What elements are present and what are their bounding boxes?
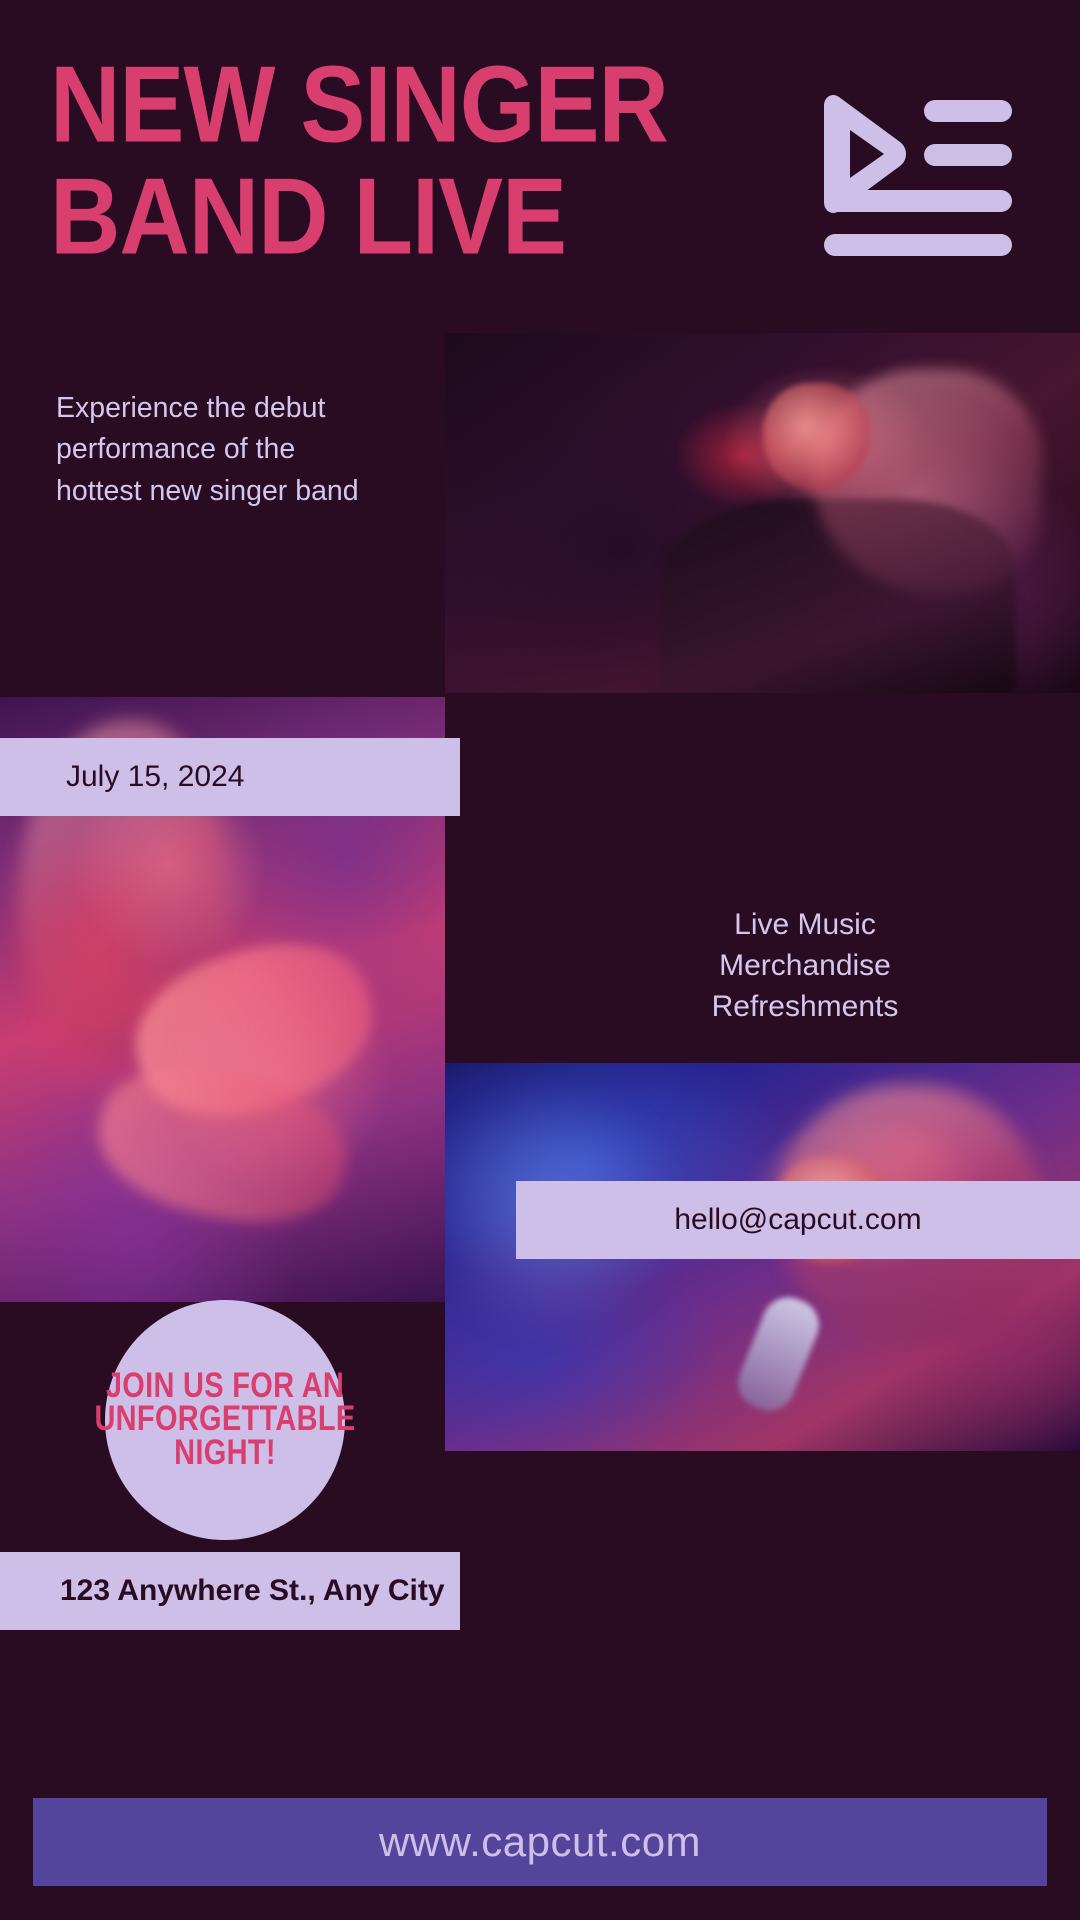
footer-url-text: www.capcut.com <box>379 1818 701 1866</box>
play-list-logo-icon <box>812 92 1012 277</box>
service-item-live-music: Live Music <box>560 905 1050 946</box>
contact-email-value: hello@capcut.com <box>674 1203 921 1237</box>
title-line-2: BAND LIVE <box>50 164 601 270</box>
service-item-refreshments: Refreshments <box>560 987 1050 1028</box>
venue-address-chip: 123 Anywhere St., Any City <box>0 1552 460 1630</box>
description-line-3: hottest new singer band <box>56 471 456 512</box>
service-item-merchandise: Merchandise <box>560 946 1050 987</box>
description-line-1: Experience the debut <box>56 388 456 429</box>
photo-1-face-shape <box>763 383 871 491</box>
badge-line-3: NIGHT! <box>174 1433 276 1474</box>
call-to-action-badge: JOIN US FOR AN UNFORGETTABLE NIGHT! <box>105 1300 345 1540</box>
description-line-2: performance of the <box>56 429 456 470</box>
services-list: Live Music Merchandise Refreshments <box>560 905 1050 1027</box>
poster-canvas: NEW SINGER BAND LIVE Experience the debu… <box>0 0 1080 1920</box>
description-text: Experience the debut performance of the … <box>56 388 456 512</box>
event-date-value: July 15, 2024 <box>66 760 244 794</box>
venue-address-value: 123 Anywhere St., Any City <box>60 1574 445 1608</box>
photo-singer-leather-jacket <box>445 333 1080 693</box>
contact-email-chip[interactable]: hello@capcut.com <box>516 1181 1080 1259</box>
page-title: NEW SINGER BAND LIVE <box>50 52 570 254</box>
event-date-chip: July 15, 2024 <box>0 738 460 816</box>
title-line-1: NEW SINGER <box>50 52 601 158</box>
footer-url-bar[interactable]: www.capcut.com <box>33 1798 1047 1886</box>
